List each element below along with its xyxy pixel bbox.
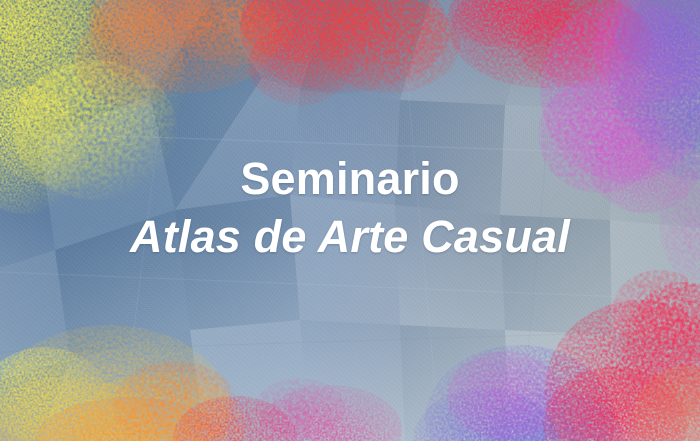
splatter-top-left-orange xyxy=(88,0,295,93)
splatter-bottom-center-pink xyxy=(255,378,402,441)
page-title: Seminario xyxy=(0,152,700,206)
splatter-top-center-red xyxy=(240,0,460,105)
splatter-bottom-left-yellow xyxy=(0,325,245,441)
splatter-bottom-left-crimson xyxy=(173,396,297,441)
splatter-top-right-crimson xyxy=(448,0,653,88)
seminar-banner: Seminario Atlas de Arte Casual xyxy=(0,0,700,441)
banner-title-block: Seminario Atlas de Arte Casual xyxy=(0,152,700,268)
splatter-bottom-right-crimson xyxy=(543,270,700,441)
splatter-bottom-right-violet xyxy=(413,345,623,441)
page-subtitle: Atlas de Arte Casual xyxy=(0,206,700,268)
